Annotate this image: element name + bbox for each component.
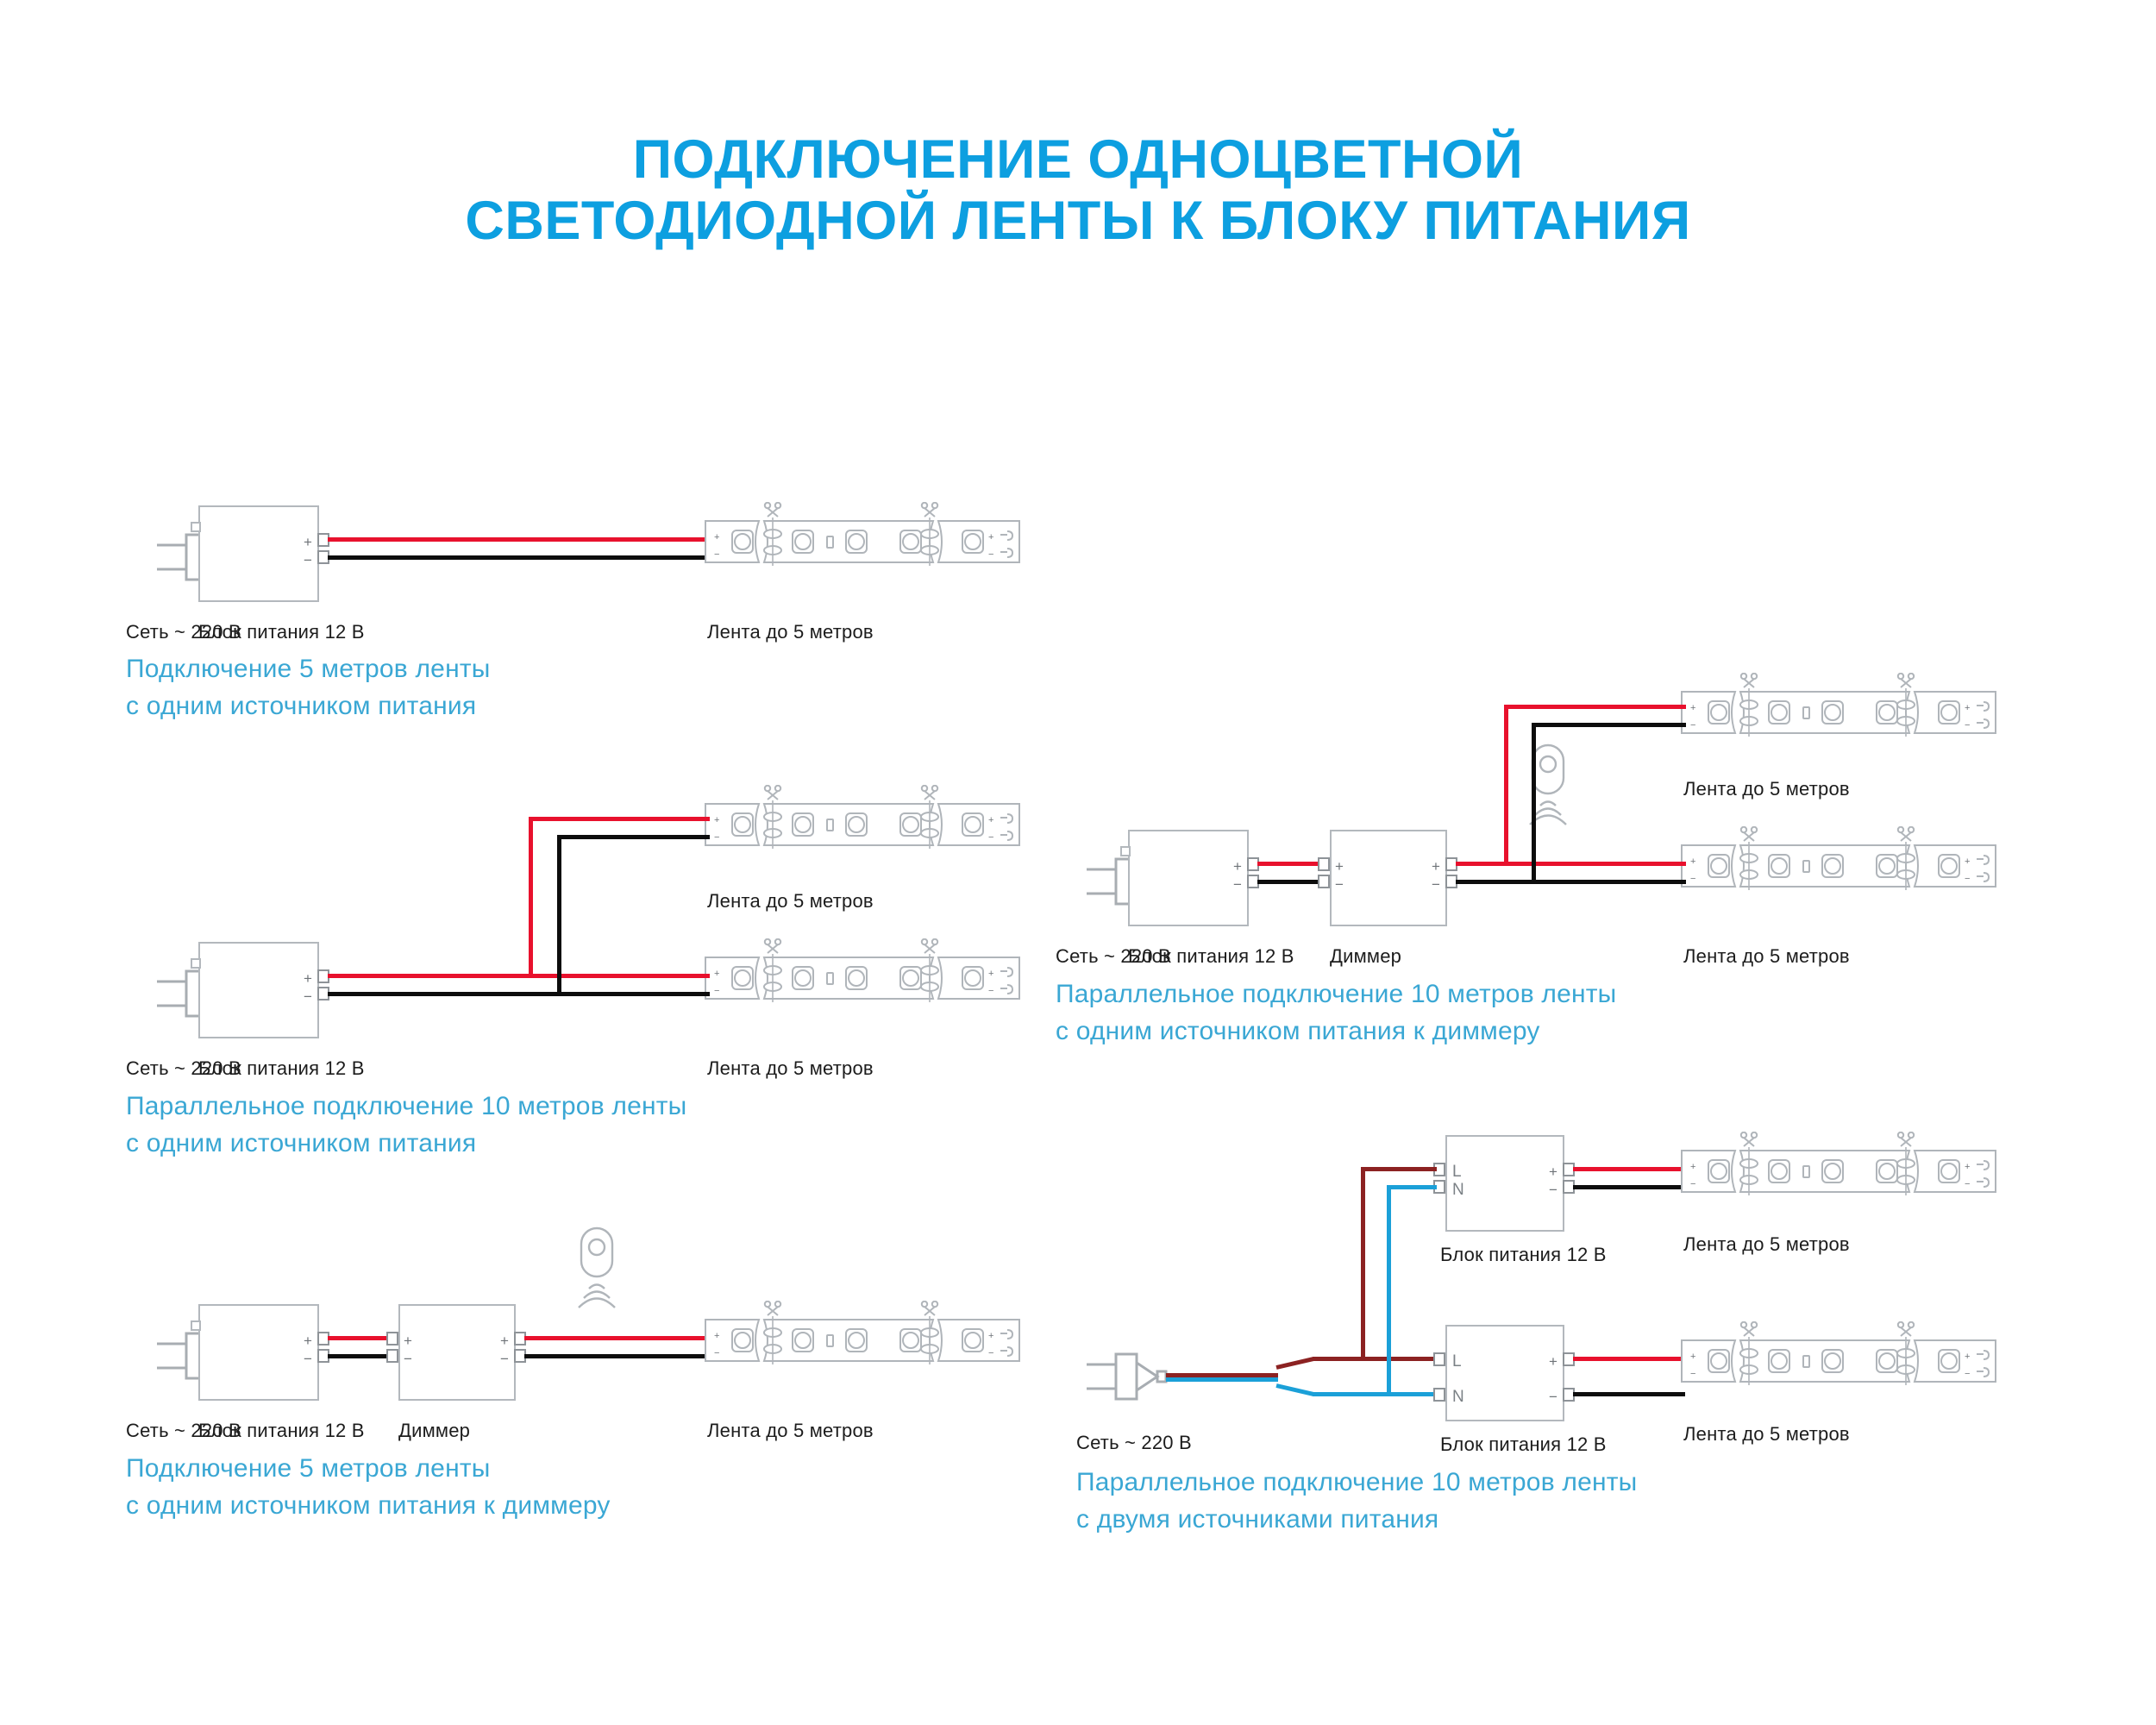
wire-positive [328,1336,388,1340]
dimmer-in-plus-label: + [404,1333,412,1348]
diagram-parallel-two-strips-one-psu: +− +− Лента до 5 метров [155,793,1026,1138]
label-power-supply: Блок питания 12 В [1440,1244,1607,1266]
svg-text:+: + [1690,856,1695,867]
diagram-parallel-two-strips-one-psu-dimmer: +− +− Лента до 5 метров [1085,681,2137,1026]
power-supply-body [198,505,319,602]
scissors-icon [922,939,937,953]
svg-text:+: + [988,969,993,979]
led-strip: +− +− [704,785,1023,871]
wireless-waves-icon [579,1285,615,1308]
terminal-plus-label: + [1549,1354,1557,1369]
dimmer-out-plus-label: + [500,1333,509,1348]
label-led-strip: Лента до 5 метров [707,1420,874,1442]
wire-negative [1573,1185,1685,1189]
wire-mains-live-to-upper-psu [1361,1167,1437,1171]
svg-text:+: + [1965,703,1970,713]
scissors-icon [765,939,780,953]
wire-positive [328,537,707,542]
wire-mains-live-split [1275,1357,1313,1370]
label-mains: Сеть ~ 220 В [1076,1432,1192,1454]
svg-text:+: + [1690,1162,1695,1172]
svg-text:−: − [1690,1179,1695,1189]
svg-text:−: − [1965,874,1970,884]
label-led-strip: Лента до 5 метров [707,890,874,913]
scissors-icon [1898,1322,1914,1336]
svg-text:+: + [1965,856,1970,867]
power-supply-body [1128,830,1249,926]
wire-negative-to-upper-strip [557,835,710,839]
led-strip: +− +− [1680,1321,1999,1408]
terminal-plus-label: + [304,535,312,549]
svg-text:+: + [988,532,993,543]
dimmer-terminal-in-positive [1318,857,1330,871]
terminal-minus-label: − [304,553,312,568]
diagram-caption: Параллельное подключение 10 метров ленты… [1056,976,1883,1050]
dimmer-in-plus-label: + [1335,859,1344,874]
scissors-icon [765,786,780,800]
terminal-live-label: L [1452,1353,1462,1370]
label-led-strip: Лента до 5 метров [1683,1423,1850,1446]
diagram-single-strip-one-psu-dimmer: + − + − + − [155,1242,1026,1501]
wire-positive-branch-up [1504,705,1508,866]
label-power-supply: Блок питания 12 В [198,1057,365,1080]
dimmer-body [1330,830,1447,926]
scissors-icon [1898,827,1914,841]
label-power-supply: Блок питания 12 В [1440,1433,1607,1456]
label-led-strip: Лента до 5 метров [707,1057,874,1080]
dimmer-in-minus-label: − [404,1352,412,1366]
dimmer-out-minus-label: − [1432,877,1440,892]
label-dimmer: Диммер [1330,945,1401,968]
dimmer-terminal-in-positive [386,1332,398,1345]
dimmer-body [398,1304,516,1401]
wire-negative [1257,880,1319,884]
svg-text:+: + [714,1331,719,1341]
scissors-icon [922,786,937,800]
wire-mains-neutral [1166,1377,1278,1382]
power-supply-body [198,942,319,1038]
svg-text:+: + [988,815,993,825]
power-supply-body [1445,1325,1564,1421]
svg-text:−: − [714,1348,719,1358]
scissors-icon [1898,1132,1914,1146]
label-led-strip: Лента до 5 метров [1683,778,1850,800]
scissors-icon [1741,1322,1757,1336]
label-led-strip: Лента до 5 метров [707,621,874,643]
terminal-live-label: L [1452,1164,1462,1180]
svg-text:+: + [1965,1352,1970,1362]
svg-text:−: − [714,986,719,996]
remote-control-icon [567,1226,627,1328]
dimmer-in-minus-label: − [1335,877,1344,892]
terminal-neutral-label: N [1452,1182,1464,1198]
label-led-strip: Лента до 5 метров [1683,945,1850,968]
wire-positive-to-strip [524,1336,707,1340]
diagram-caption: Подключение 5 метров ленты с одним источ… [126,651,902,724]
dimmer-terminal-in-negative [386,1349,398,1363]
label-power-supply: Блок питания 12 В [198,1420,365,1442]
scissors-icon [922,503,937,517]
wire-mains-live-riser [1361,1167,1365,1361]
wire-negative [328,555,707,560]
page-title: ПОДКЛЮЧЕНИЕ ОДНОЦВЕТНОЙ СВЕТОДИОДНОЙ ЛЕН… [0,129,2156,251]
scissors-icon [1741,1132,1757,1146]
terminal-plus-label: + [304,1333,312,1348]
led-strip: +− +− [1680,673,1999,759]
label-dimmer: Диммер [398,1420,470,1442]
wire-mains-neutral-riser [1387,1185,1391,1396]
svg-text:−: − [1965,1179,1970,1189]
svg-text:−: − [988,1348,993,1358]
poster-root: ПОДКЛЮЧЕНИЕ ОДНОЦВЕТНОЙ СВЕТОДИОДНОЙ ЛЕН… [0,0,2156,1725]
power-supply-terminal-live [1433,1352,1445,1366]
remote-control-icon [1518,743,1578,845]
power-supply-cable-nub [1120,846,1131,856]
terminal-minus-label: − [1549,1389,1557,1404]
wire-negative-to-lower-strip [1535,880,1686,884]
diagram-caption: Параллельное подключение 10 метров ленты… [126,1088,902,1162]
led-strip: +− +− [704,1301,1023,1387]
wire-positive-from-dimmer [1456,862,1507,866]
diagram-caption: Параллельное подключение 10 метров ленты… [1076,1465,1904,1538]
svg-text:+: + [988,1331,993,1341]
label-power-supply: Блок питания 12 В [198,621,365,643]
label-led-strip: Лента до 5 метров [1683,1233,1850,1256]
scissors-icon [1741,674,1757,687]
scissors-icon [765,503,780,517]
diagram-parallel-two-strips-two-psu: L N + − Блок питания 12 В [1085,1138,2137,1501]
wire-positive-branch-up [529,817,533,978]
svg-text:−: − [1690,1369,1695,1379]
terminal-minus-label: − [1549,1182,1557,1197]
terminal-plus-label: + [1549,1164,1557,1179]
svg-text:+: + [714,532,719,543]
dimmer-out-minus-label: − [500,1352,509,1366]
wire-negative-to-lower-strip [561,992,710,996]
svg-text:+: + [714,815,719,825]
scissors-icon [1898,674,1914,687]
wire-negative-to-strip [524,1354,707,1358]
power-supply-cable-nub [191,522,201,532]
svg-text:+: + [714,969,719,979]
led-strip: +− +− [1680,826,1999,913]
svg-text:−: − [1965,720,1970,731]
wire-mains-neutral-to-upper-psu [1387,1185,1437,1189]
svg-text:−: − [1690,720,1695,731]
dimmer-terminal-in-negative [1318,875,1330,888]
scissors-icon [1741,827,1757,841]
power-supply-cable-nub [191,958,201,969]
svg-text:−: − [714,549,719,560]
wire-negative [328,992,561,996]
wire-negative [328,1354,388,1358]
wire-positive-to-upper-strip [529,817,710,821]
led-strip: +− +− [1680,1132,1999,1218]
wire-negative-to-upper-strip [1532,723,1686,727]
scissors-icon [765,1302,780,1315]
power-supply-body [198,1304,319,1401]
svg-text:+: + [1690,703,1695,713]
svg-text:+: + [1965,1162,1970,1172]
wire-negative-from-dimmer [1456,880,1535,884]
wire-mains-neutral-split [1275,1383,1313,1396]
wire-negative [1573,1392,1685,1396]
terminal-plus-label: + [304,971,312,986]
svg-text:−: − [988,832,993,843]
scissors-icon [922,1302,937,1315]
wire-positive [1573,1167,1685,1171]
terminal-minus-label: − [1233,877,1242,892]
power-supply-cable-nub [191,1320,201,1331]
svg-text:−: − [1690,874,1695,884]
terminal-minus-label: − [304,989,312,1004]
wire-mains-neutral-run [1313,1392,1435,1396]
dimmer-out-plus-label: + [1432,859,1440,874]
power-supply-terminal-neutral [1433,1388,1445,1402]
diagram-caption: Подключение 5 метров ленты с одним источ… [126,1451,902,1524]
diagram-single-strip-one-psu: + − [155,517,1026,750]
svg-text:+: + [1690,1352,1695,1362]
terminal-neutral-label: N [1452,1389,1464,1405]
led-strip: +− +− [704,938,1023,1025]
wire-positive [1257,862,1319,866]
svg-text:−: − [714,832,719,843]
terminal-plus-label: + [1233,859,1242,874]
wire-negative-branch-up [1532,723,1536,884]
svg-text:−: − [988,549,993,560]
wire-negative-branch-up [557,835,561,996]
wire-positive [1573,1357,1685,1361]
wire-positive-to-upper-strip [1504,705,1686,709]
wire-mains-live-run [1313,1357,1435,1361]
wire-positive [328,974,533,978]
terminal-minus-label: − [304,1352,312,1366]
svg-text:−: − [988,986,993,996]
label-power-supply: Блок питания 12 В [1128,945,1294,968]
led-strip: +− +− [704,502,1023,588]
svg-text:−: − [1965,1369,1970,1379]
